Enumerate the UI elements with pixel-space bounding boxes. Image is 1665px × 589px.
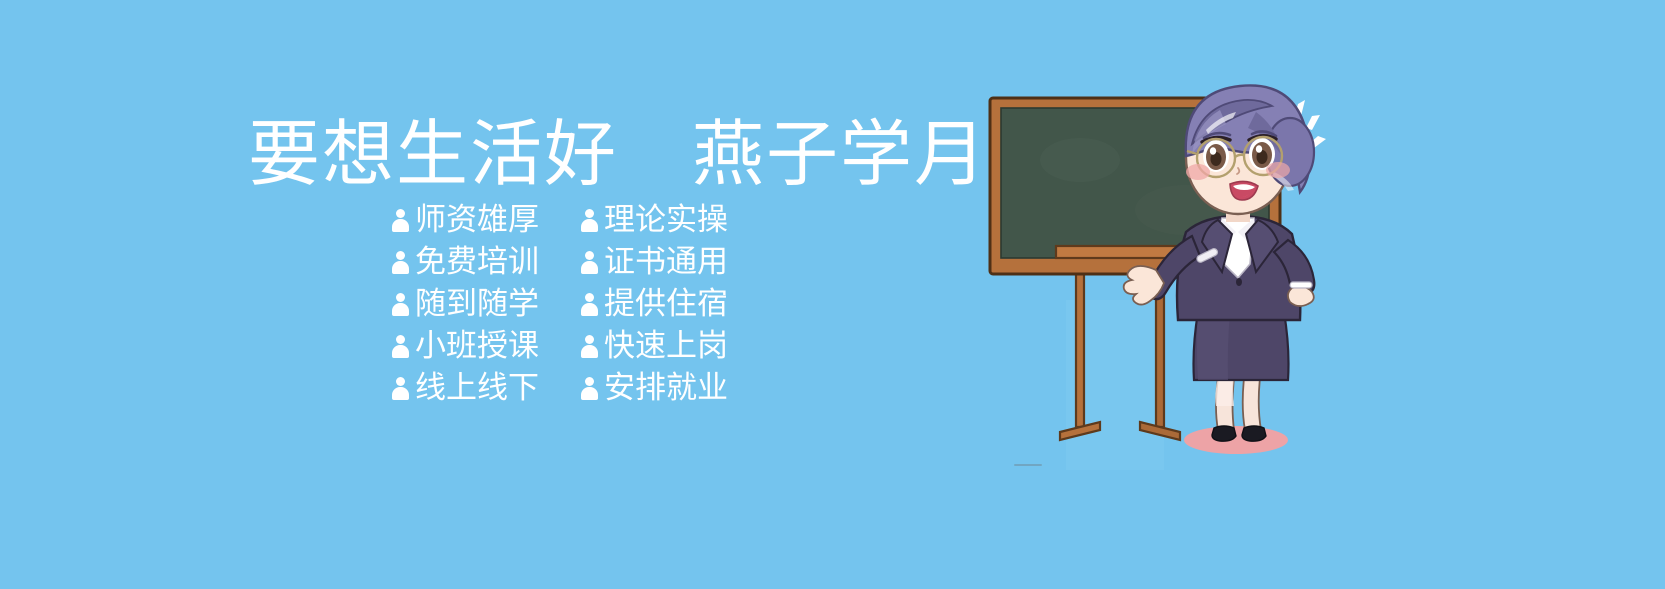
feature-label: 理论实操 — [604, 203, 728, 237]
feature-item: 证书通用 — [581, 245, 728, 279]
feature-item: 随到随学 — [392, 287, 539, 321]
person-icon — [581, 250, 598, 275]
feature-label: 师资雄厚 — [415, 203, 539, 237]
feature-column-left: 师资雄厚 免费培训 随到随学 小班授课 线上线下 — [392, 203, 539, 405]
feature-item: 免费培训 — [392, 245, 539, 279]
feature-item: 小班授课 — [392, 329, 539, 363]
feature-column-right: 理论实操 证书通用 提供住宿 快速上岗 安排就业 — [581, 203, 728, 405]
blush — [1266, 162, 1290, 178]
feature-item: 快速上岗 — [581, 329, 728, 363]
feature-item: 理论实操 — [581, 203, 728, 237]
feature-label: 快速上岗 — [604, 329, 728, 363]
person-icon — [581, 376, 598, 401]
person-icon — [581, 334, 598, 359]
person-icon — [581, 208, 598, 233]
blush — [1186, 164, 1210, 180]
feature-label: 线上线下 — [415, 371, 539, 405]
feature-label: 小班授课 — [415, 329, 539, 363]
person-icon — [392, 250, 409, 275]
teacher-blackboard-illustration — [960, 60, 1380, 480]
feature-label: 提供住宿 — [604, 287, 728, 321]
floor-line — [1014, 464, 1042, 466]
legs — [1215, 378, 1261, 430]
feature-item: 线上线下 — [392, 371, 539, 405]
feature-label: 证书通用 — [604, 245, 728, 279]
promo-banner: 要想生活好 燕子学月嫂 师资雄厚 免费培训 随到随学 小班授课 线上线下 — [0, 0, 1665, 589]
feature-item: 提供住宿 — [581, 287, 728, 321]
feature-label: 安排就业 — [604, 371, 728, 405]
feature-list: 师资雄厚 免费培训 随到随学 小班授课 线上线下 理论实操 — [392, 203, 728, 405]
feature-item: 安排就业 — [581, 371, 728, 405]
person-icon — [392, 292, 409, 317]
feature-item: 师资雄厚 — [392, 203, 539, 237]
page-title: 要想生活好 燕子学月嫂 — [248, 112, 1062, 196]
person-icon — [392, 334, 409, 359]
right-hand — [1288, 287, 1314, 306]
feature-label: 随到随学 — [415, 287, 539, 321]
person-icon — [581, 292, 598, 317]
feature-label: 免费培训 — [415, 245, 539, 279]
person-icon — [392, 208, 409, 233]
person-icon — [392, 376, 409, 401]
